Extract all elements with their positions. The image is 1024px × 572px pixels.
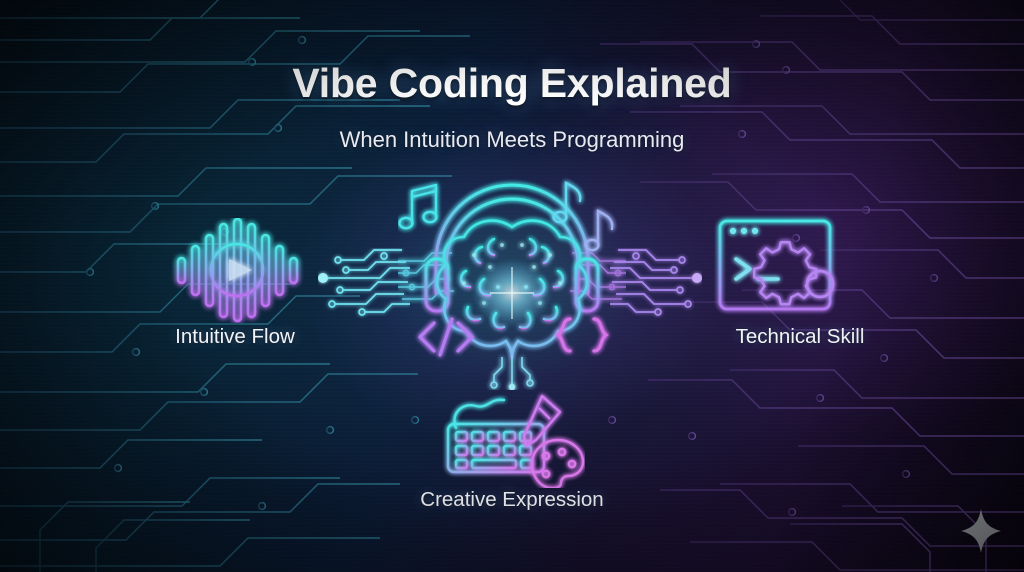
curly-braces-icon — [558, 319, 606, 351]
terminal-gear-icon — [714, 215, 864, 320]
music-note-icon — [400, 185, 437, 228]
node-vibe-core[interactable] — [398, 175, 626, 390]
node-creative-expression[interactable] — [440, 388, 585, 488]
node-label-intuitive-flow: Intuitive Flow — [90, 325, 380, 349]
music-note-icon — [586, 211, 613, 250]
page-title: Vibe Coding Explained — [0, 60, 1024, 107]
audio-waveform-play-icon — [160, 218, 320, 323]
left-connector — [318, 248, 410, 318]
brain-headphones-icon — [398, 175, 626, 390]
infographic-canvas: Vibe Coding Explained When Intuition Mee… — [0, 0, 1024, 572]
right-connector — [610, 248, 702, 318]
node-label-creative-expression: Creative Expression — [367, 488, 657, 512]
node-label-technical-skill: Technical Skill — [655, 325, 945, 349]
node-intuitive-flow[interactable] — [160, 218, 320, 323]
keyboard-paintbrush-palette-icon — [440, 388, 585, 488]
sparkle-diamond-icon — [960, 508, 1002, 554]
circuit-trace-right-icon — [610, 248, 702, 318]
circuit-trace-left-icon — [318, 248, 410, 318]
node-technical-skill[interactable] — [714, 215, 864, 320]
page-subtitle: When Intuition Meets Programming — [0, 127, 1024, 153]
code-angle-brackets-icon — [420, 319, 472, 355]
